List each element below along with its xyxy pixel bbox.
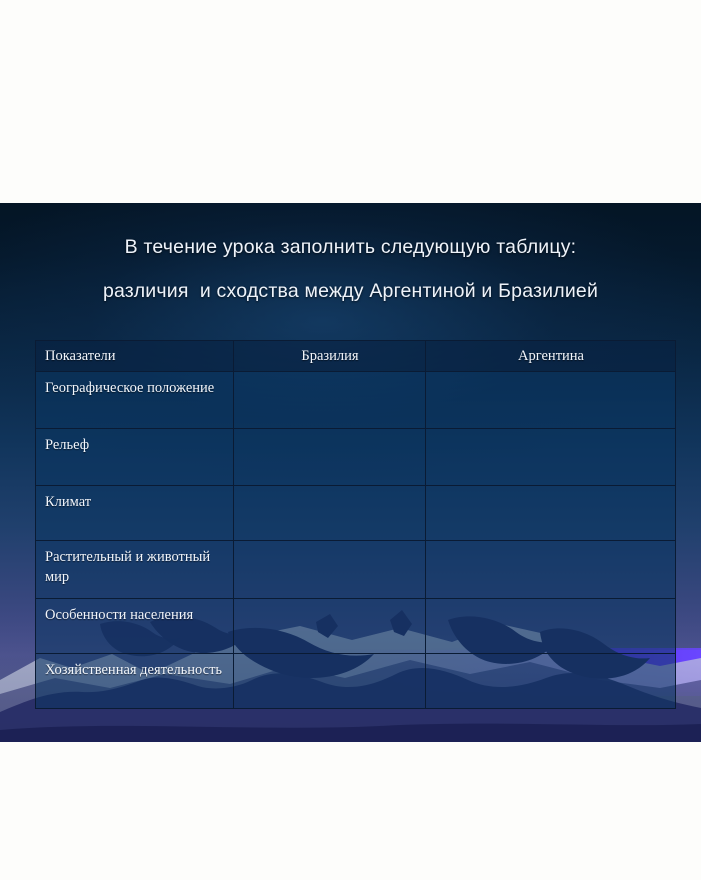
cell-brazil-flora-and-fauna[interactable] xyxy=(234,541,426,599)
presentation-slide: В течение урока заполнить следующую табл… xyxy=(0,203,701,742)
slide-title: В течение урока заполнить следующую табл… xyxy=(0,225,701,313)
cell-argentina-climate[interactable] xyxy=(426,486,676,541)
title-line-1: В течение урока заполнить следующую табл… xyxy=(0,225,701,269)
table-row: Растительный и животный мир xyxy=(36,541,676,599)
comparison-table-container: Показатели Бразилия Аргентина Географиче… xyxy=(35,340,675,709)
cell-brazil-population-features[interactable] xyxy=(234,599,426,654)
row-label-geographic-position: Географическое положение xyxy=(36,372,234,429)
cell-argentina-population-features[interactable] xyxy=(426,599,676,654)
column-header-argentina: Аргентина xyxy=(426,341,676,372)
table-row: Климат xyxy=(36,486,676,541)
title-line-2: различия и сходства между Аргентиной и Б… xyxy=(0,269,701,313)
row-label-flora-and-fauna: Растительный и животный мир xyxy=(36,541,234,599)
cell-brazil-geographic-position[interactable] xyxy=(234,372,426,429)
table-row: Рельеф xyxy=(36,429,676,486)
cell-brazil-relief[interactable] xyxy=(234,429,426,486)
column-header-indicators: Показатели xyxy=(36,341,234,372)
row-label-relief: Рельеф xyxy=(36,429,234,486)
cell-brazil-economic-activity[interactable] xyxy=(234,654,426,709)
cell-argentina-relief[interactable] xyxy=(426,429,676,486)
table-row: Географическое положение xyxy=(36,372,676,429)
row-label-economic-activity: Хозяйственная деятельность xyxy=(36,654,234,709)
row-label-climate: Климат xyxy=(36,486,234,541)
table-row: Особенности населения xyxy=(36,599,676,654)
cell-brazil-climate[interactable] xyxy=(234,486,426,541)
cell-argentina-flora-and-fauna[interactable] xyxy=(426,541,676,599)
cell-argentina-geographic-position[interactable] xyxy=(426,372,676,429)
row-label-population-features: Особенности населения xyxy=(36,599,234,654)
cell-argentina-economic-activity[interactable] xyxy=(426,654,676,709)
page-root: В течение урока заполнить следующую табл… xyxy=(0,0,701,880)
table-row: Хозяйственная деятельность xyxy=(36,654,676,709)
table-header-row: Показатели Бразилия Аргентина xyxy=(36,341,676,372)
column-header-brazil: Бразилия xyxy=(234,341,426,372)
comparison-table: Показатели Бразилия Аргентина Географиче… xyxy=(35,340,676,709)
